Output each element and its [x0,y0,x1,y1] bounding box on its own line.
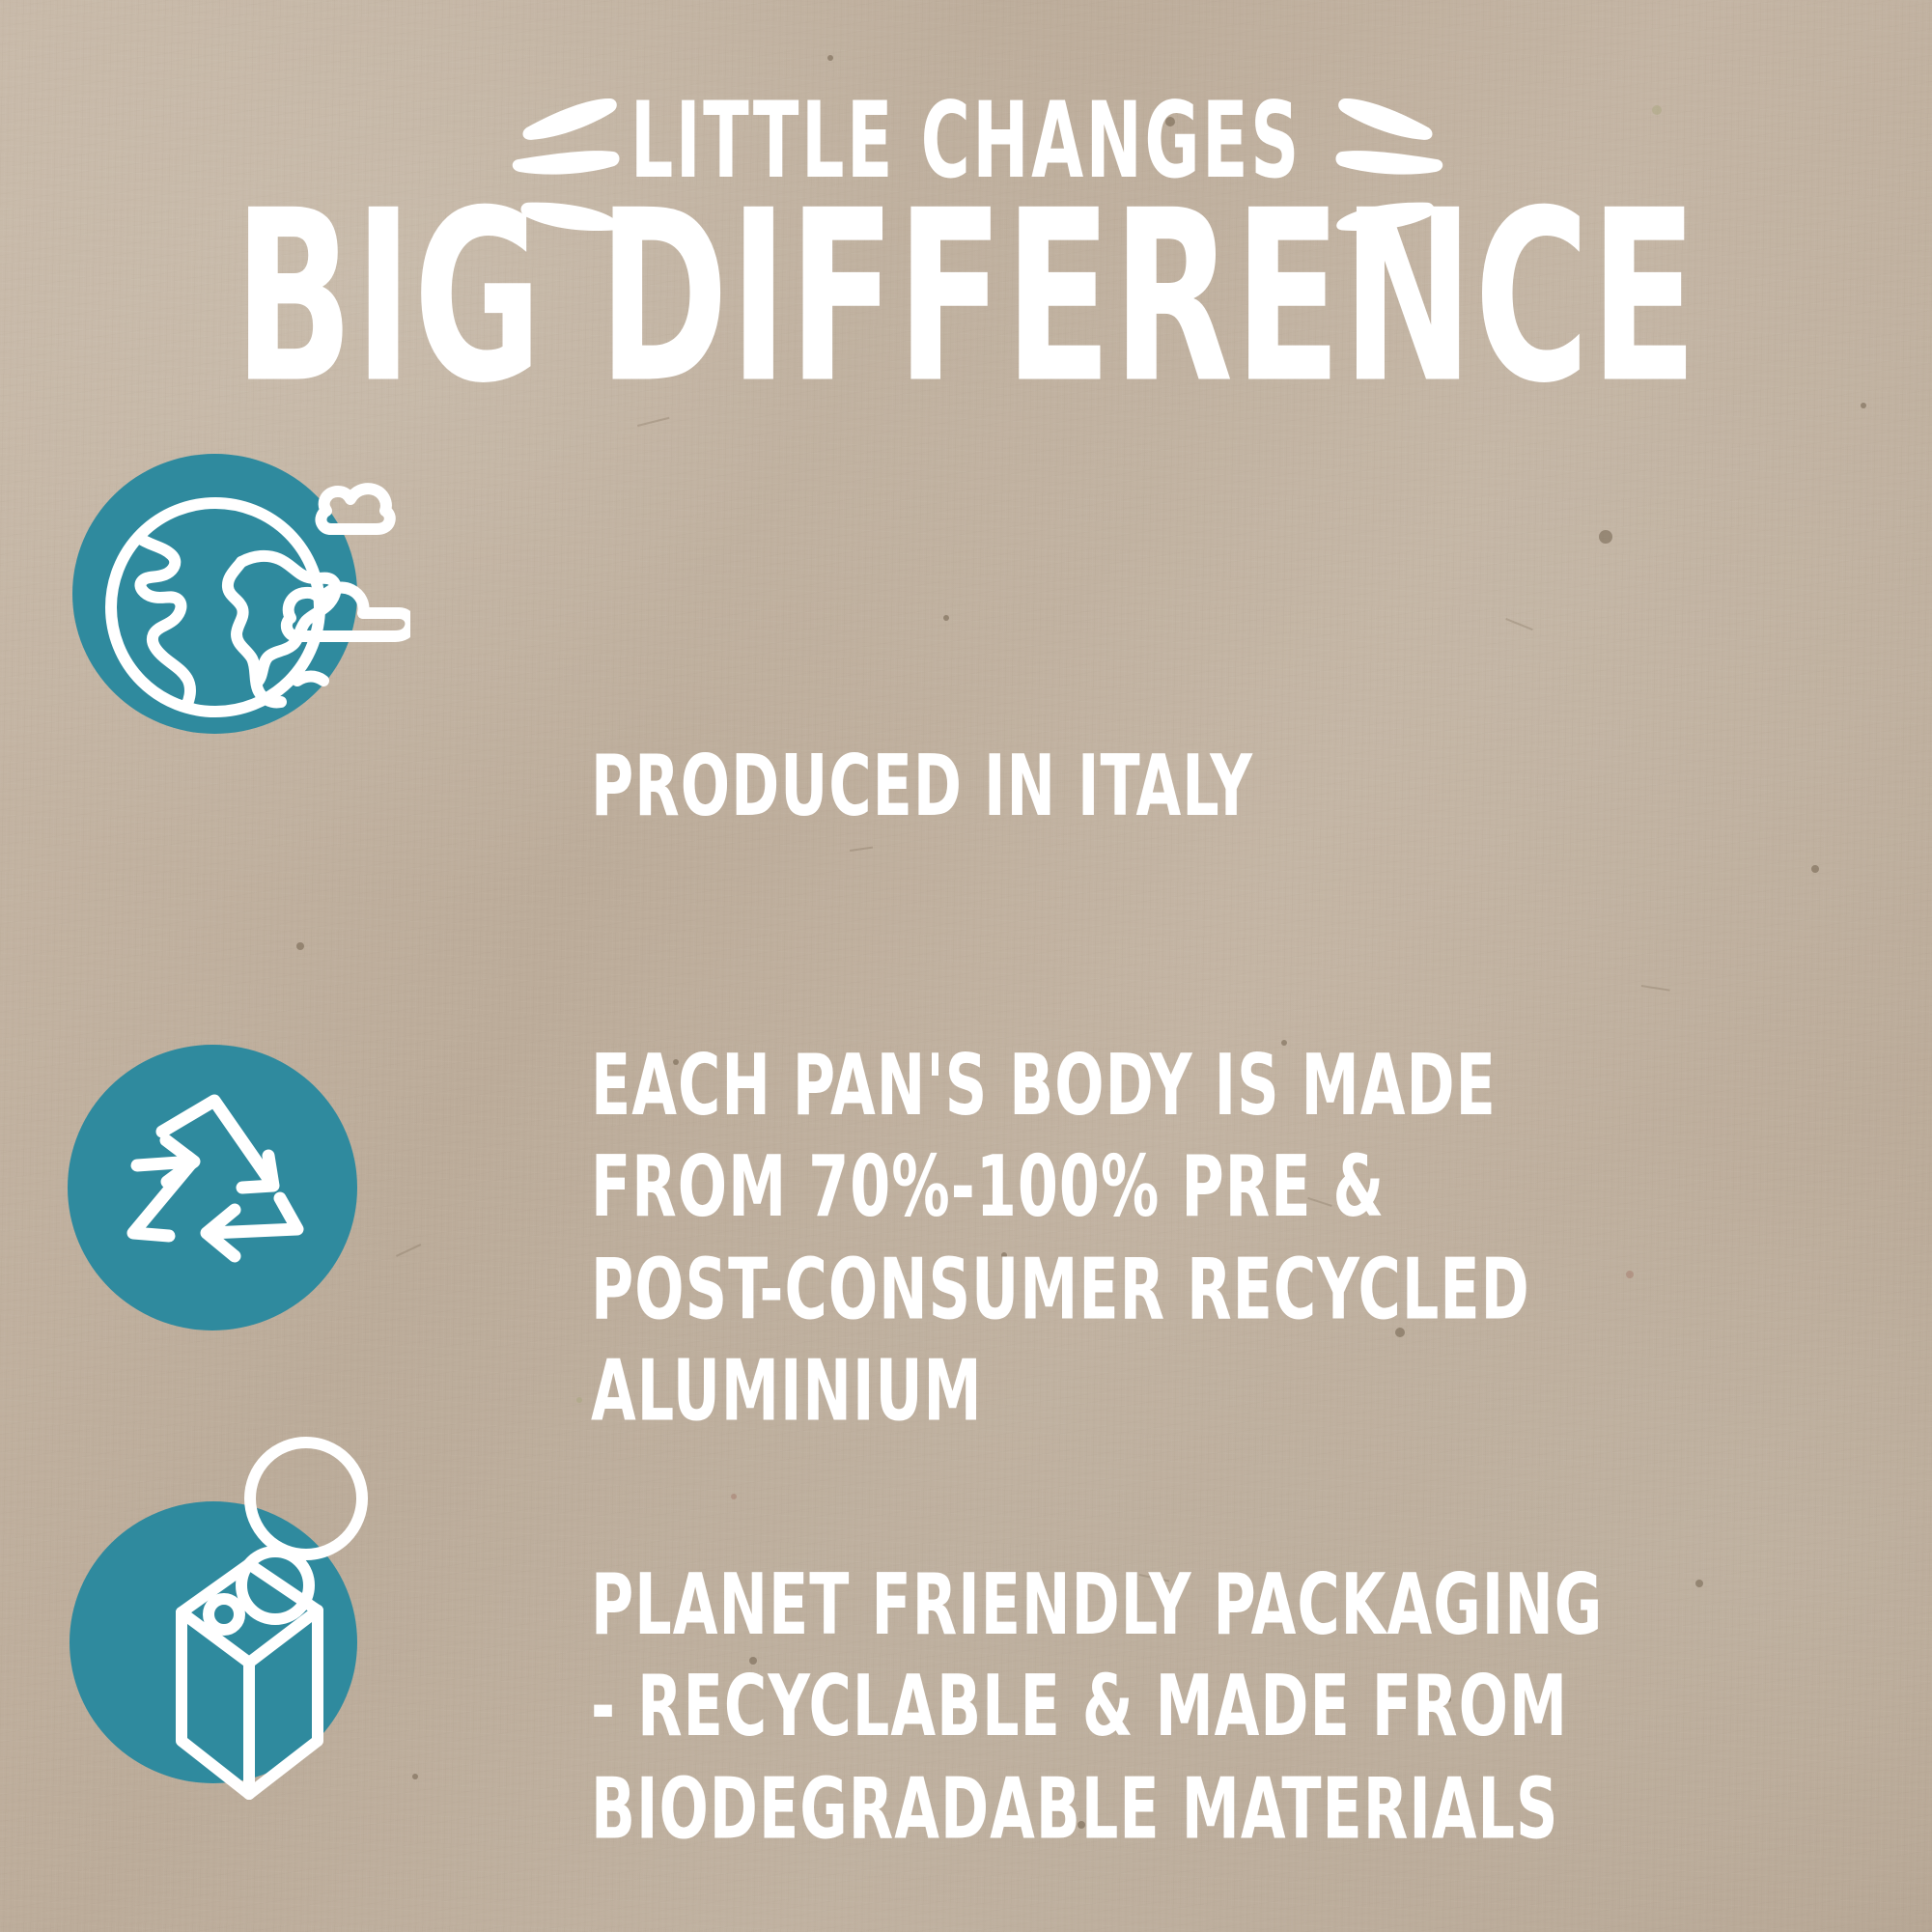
feature-icon-circle-3 [70,1501,357,1783]
feature-icon-circle-2 [68,1045,357,1330]
feature-icon-circle-1 [72,454,357,734]
feature-text-2: EACH PAN'S BODY IS MADE FROM 70%-100% PR… [591,1035,1530,1443]
headline-text: BIG DIFFERENCE [154,179,1778,415]
infographic-canvas: LITTLE CHANGES BIG DIFFERENCE PRODUCED I… [0,0,1932,1932]
feature-text-3: PLANET FRIENDLY PACKAGING - RECYCLABLE &… [591,1554,1603,1861]
feature-text-1: PRODUCED IN ITALY [591,736,1253,838]
